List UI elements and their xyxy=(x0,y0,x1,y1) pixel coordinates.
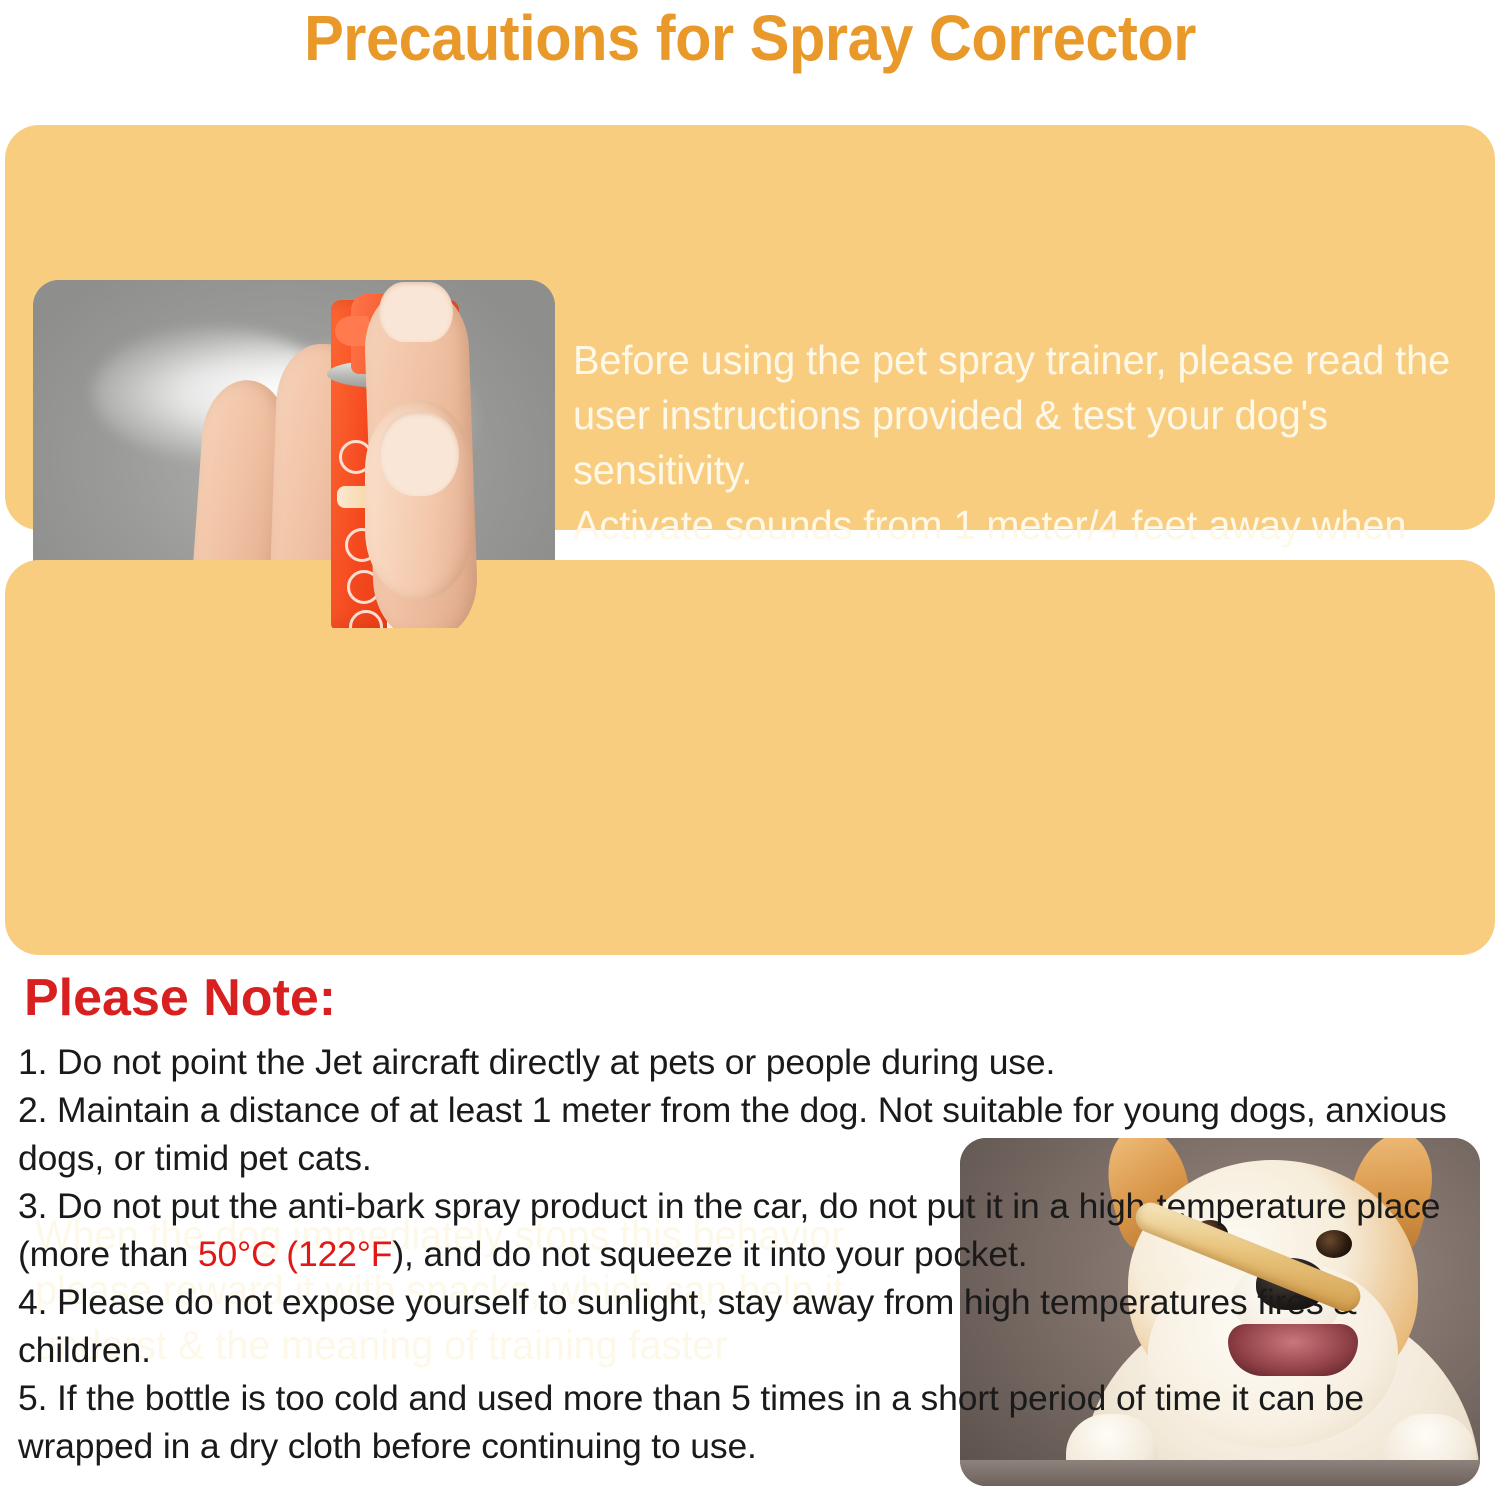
precaution-panel-1: Before using the pet spray trainer, plea… xyxy=(5,125,1495,530)
note-item-text: ), and do not squeeze it into your pocke… xyxy=(392,1234,1027,1274)
note-list-item: 1. Do not point the Jet aircraft directl… xyxy=(18,1038,1488,1086)
note-item-number: 1. xyxy=(18,1042,57,1082)
note-item-number: 4. xyxy=(18,1282,57,1322)
note-item-text: Please do not expose yourself to sunligh… xyxy=(18,1282,1357,1370)
page-title: Precautions for Spray Corrector xyxy=(53,0,1448,70)
note-list-item: 4. Please do not expose yourself to sunl… xyxy=(18,1278,1488,1374)
note-item-text: Do not point the Jet aircraft directly a… xyxy=(57,1042,1055,1082)
temperature-highlight: 50°C (122°F xyxy=(198,1234,392,1274)
note-list-item: 5. If the bottle is too cold and used mo… xyxy=(18,1374,1488,1470)
note-item-text: If the bottle is too cold and used more … xyxy=(18,1378,1364,1466)
note-list-item: 2. Maintain a distance of at least 1 met… xyxy=(18,1086,1488,1182)
note-item-number: 5. xyxy=(18,1378,57,1418)
fingernail-icon xyxy=(379,412,459,496)
can-warning-icon xyxy=(349,610,383,628)
fingernail-icon xyxy=(379,282,453,342)
note-item-text: Maintain a distance of at least 1 meter … xyxy=(18,1090,1447,1178)
note-item-number: 2. xyxy=(18,1090,57,1130)
spray-nozzle-tip xyxy=(335,316,369,346)
please-note-heading: Please Note: xyxy=(24,972,336,1024)
precaution-panel-2: When the dog immediately stops this beha… xyxy=(5,560,1495,955)
note-item-number: 3. xyxy=(18,1186,57,1226)
